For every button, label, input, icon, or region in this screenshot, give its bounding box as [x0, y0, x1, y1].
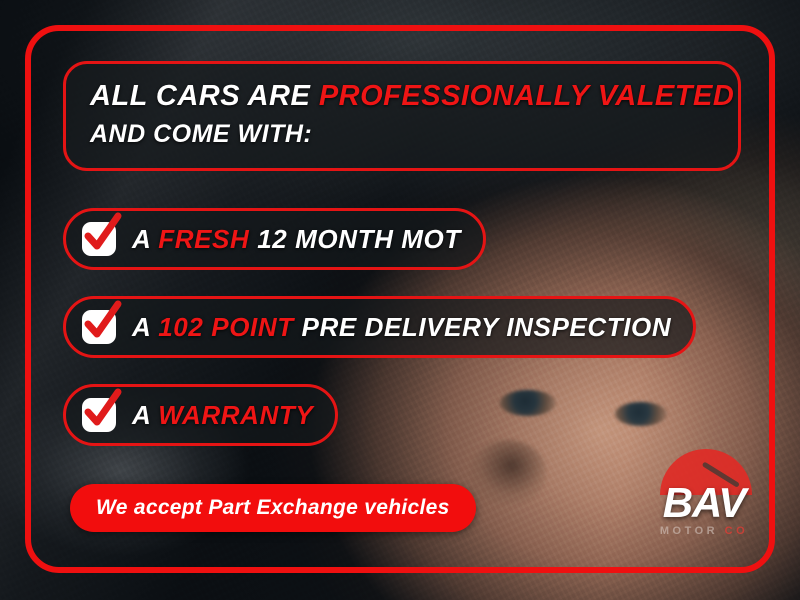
banner-content: ALL CARS ARE PROFESSIONALLY VALETED AND …: [0, 0, 800, 600]
bav-logo: BAV MOTOR CO: [643, 449, 765, 557]
feature-row-label: A 102 POINT PRE DELIVERY INSPECTION: [132, 312, 671, 343]
feature-text-after: 12 MONTH MOT: [249, 224, 460, 254]
checkbox-checked-icon: [82, 310, 116, 344]
feature-row: A FRESH 12 MONTH MOT: [63, 208, 486, 270]
logo-wordmark: BAV: [643, 479, 765, 527]
part-exchange-pill: We accept Part Exchange vehicles: [70, 484, 476, 532]
heading-white-text: ALL CARS ARE: [90, 80, 319, 112]
checkbox-checked-icon: [82, 398, 116, 432]
feature-text-before: A: [132, 224, 158, 254]
checkbox-checked-icon: [82, 222, 116, 256]
logo-tagline-motor: MOTOR: [660, 525, 725, 537]
banner-canvas: ALL CARS ARE PROFESSIONALLY VALETED AND …: [0, 0, 800, 600]
feature-text-emphasis: FRESH: [158, 224, 249, 254]
logo-tagline: MOTOR CO: [643, 525, 765, 537]
feature-text-after: PRE DELIVERY INSPECTION: [294, 312, 672, 342]
part-exchange-label: We accept Part Exchange vehicles: [96, 496, 450, 520]
feature-text-before: A: [132, 400, 158, 430]
feature-row-label: A FRESH 12 MONTH MOT: [132, 224, 461, 255]
feature-text-emphasis: 102 POINT: [158, 312, 293, 342]
feature-text-before: A: [132, 312, 158, 342]
feature-text-emphasis: WARRANTY: [158, 400, 313, 430]
heading-red-text: PROFESSIONALLY VALETED: [319, 80, 734, 112]
feature-row-label: A WARRANTY: [132, 400, 313, 431]
heading-line-2: AND COME WITH:: [90, 121, 738, 148]
feature-row: A WARRANTY: [63, 384, 338, 446]
feature-row: A 102 POINT PRE DELIVERY INSPECTION: [63, 296, 696, 358]
heading-line-1: ALL CARS ARE PROFESSIONALLY VALETED: [90, 81, 738, 112]
logo-tagline-co: CO: [725, 525, 749, 537]
heading-panel: ALL CARS ARE PROFESSIONALLY VALETED AND …: [63, 61, 741, 171]
